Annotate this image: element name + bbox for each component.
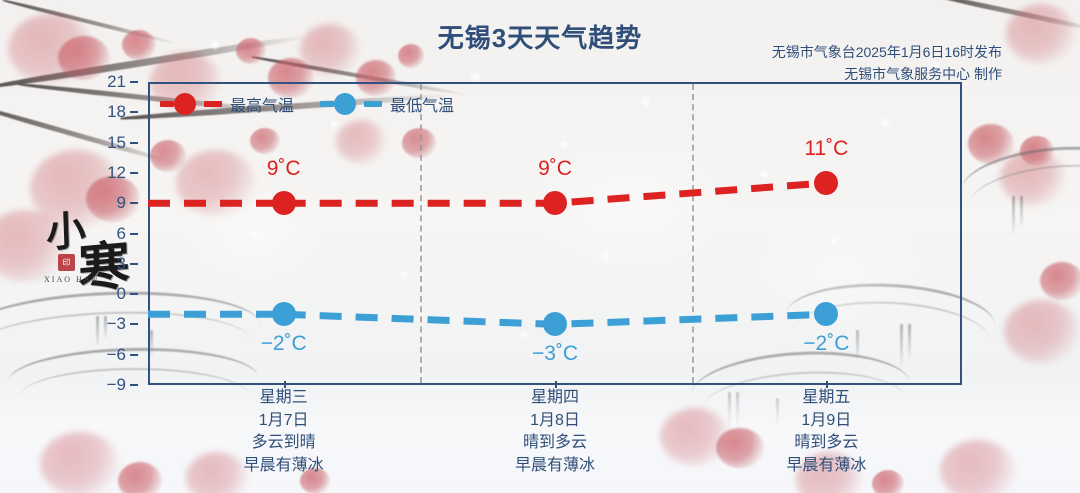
day-column: 星期四1月8日晴到多云早晨有薄冰	[450, 387, 660, 478]
day-sky: 晴到多云	[450, 432, 660, 455]
y-axis-tick-label: 3	[117, 254, 126, 274]
y-axis-tick-label: −3	[107, 314, 126, 334]
day-note: 早晨有薄冰	[721, 455, 931, 478]
day-weekday: 星期五	[721, 387, 931, 410]
legend-item-low: 最低气温	[320, 92, 454, 116]
day-weekday: 星期四	[450, 387, 660, 410]
day-sky: 晴到多云	[721, 432, 931, 455]
high-temp-value-label: 9˚C	[538, 157, 572, 181]
high-temp-value-label: 9˚C	[267, 157, 301, 181]
day-sky: 多云到晴	[179, 432, 389, 455]
day-column: 星期五1月9日晴到多云早晨有薄冰	[721, 387, 931, 478]
temperature-series: 9˚C9˚C11˚C−2˚C−3˚C−2˚C	[148, 82, 962, 385]
y-axis-tick-label: 18	[107, 102, 126, 122]
y-axis-tick-label: 12	[107, 163, 126, 183]
day-date: 1月7日	[179, 410, 389, 433]
x-axis-tick-mark	[826, 381, 828, 388]
x-axis-day-labels: 星期三1月7日多云到晴早晨有薄冰星期四1月8日晴到多云早晨有薄冰星期五1月9日晴…	[148, 387, 962, 493]
issuer-info: 无锡市气象台2025年1月6日16时发布 无锡市气象服务中心 制作	[772, 42, 1002, 85]
y-axis-tick-mark	[130, 111, 138, 113]
y-axis-tick-mark	[130, 323, 138, 325]
day-date: 1月9日	[721, 410, 931, 433]
legend-marker-low-icon	[320, 93, 382, 115]
legend-label-high: 最高气温	[230, 92, 294, 116]
y-axis-tick-label: 0	[117, 284, 126, 304]
high-temp-value-label: 11˚C	[804, 137, 848, 161]
y-axis-tick-label: 15	[107, 133, 126, 153]
x-axis-tick-mark	[555, 381, 557, 388]
y-axis-tick-mark	[130, 233, 138, 235]
y-axis-tick-mark	[130, 384, 138, 386]
low-temp-point[interactable]	[543, 312, 567, 336]
issuer-line-1: 无锡市气象台2025年1月6日16时发布	[772, 42, 1002, 64]
y-axis-tick-mark	[130, 81, 138, 83]
day-note: 早晨有薄冰	[179, 455, 389, 478]
y-axis-tick-label: 9	[117, 193, 126, 213]
y-axis-tick-label: 21	[107, 72, 126, 92]
legend-item-high: 最高气温	[160, 92, 294, 116]
y-axis-tick-label: −6	[107, 345, 126, 365]
y-axis-tick-mark	[130, 293, 138, 295]
high-temp-point[interactable]	[814, 171, 838, 195]
low-temp-point[interactable]	[272, 302, 296, 326]
day-column: 星期三1月7日多云到晴早晨有薄冰	[179, 387, 389, 478]
day-weekday: 星期三	[179, 387, 389, 410]
legend-label-low: 最低气温	[390, 92, 454, 116]
y-axis-tick-label: −9	[107, 375, 126, 395]
y-axis-tick-mark	[130, 263, 138, 265]
x-axis-tick-mark	[284, 381, 286, 388]
low-temp-point[interactable]	[814, 302, 838, 326]
low-temp-value-label: −3˚C	[532, 342, 578, 366]
day-note: 早晨有薄冰	[450, 455, 660, 478]
high-temp-point[interactable]	[543, 191, 567, 215]
y-axis-tick-mark	[130, 354, 138, 356]
low-temp-value-label: −2˚C	[261, 332, 307, 356]
high-temp-point[interactable]	[272, 191, 296, 215]
y-axis-tick-mark	[130, 172, 138, 174]
y-axis-tick-mark	[130, 142, 138, 144]
y-axis-tick-mark	[130, 202, 138, 204]
chart-legend: 最高气温 最低气温	[160, 92, 454, 116]
low-temp-value-label: −2˚C	[803, 332, 849, 356]
weather-trend-infographic: 小 寒 印 XIAO HAN 无锡3天天气趋势 无锡市气象台2025年1月6日1…	[0, 0, 1080, 493]
legend-marker-high-icon	[160, 93, 222, 115]
y-axis-tick-label: 6	[117, 224, 126, 244]
y-axis: 211815129630−3−6−9	[0, 82, 148, 385]
day-date: 1月8日	[450, 410, 660, 433]
